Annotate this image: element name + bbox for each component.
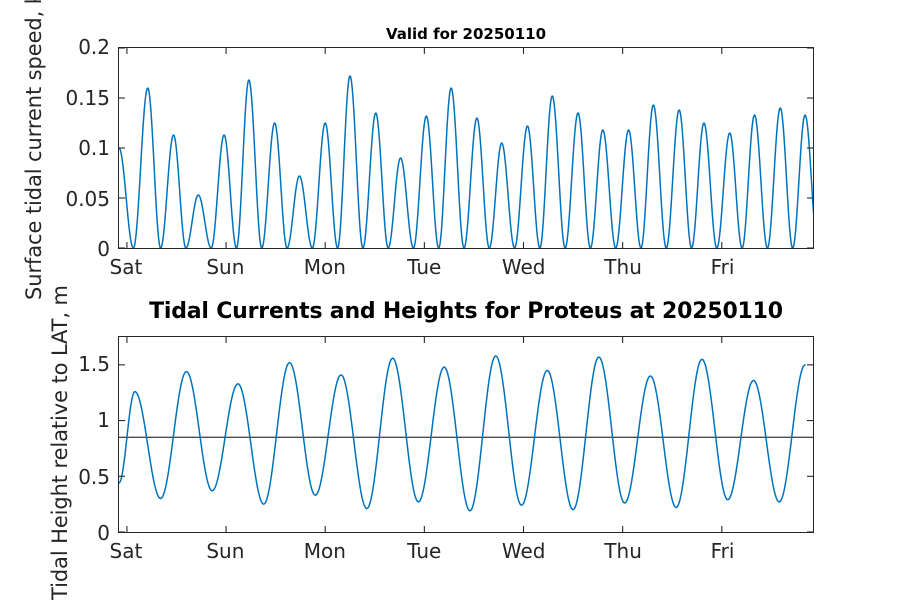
x-tick-label-current: Wed bbox=[502, 255, 546, 279]
tidal-figure: Surface tidal current speed, kn Tidal He… bbox=[0, 0, 900, 600]
plot-area-current-speed bbox=[118, 47, 814, 249]
y-tick-label-current: 0.2 bbox=[2, 35, 110, 59]
x-tick-label-height: Sat bbox=[110, 539, 143, 563]
x-tick-label-height: Fri bbox=[711, 539, 735, 563]
y-axis-label-tidal-height: Tidal Height relative to LAT, m bbox=[48, 285, 72, 600]
y-tick-label-current: 0.1 bbox=[2, 136, 110, 160]
tidal-height-line-chart bbox=[119, 337, 813, 532]
plot-area-tidal-height bbox=[118, 336, 814, 533]
current-speed-line-chart bbox=[119, 48, 813, 248]
x-tick-label-current: Sun bbox=[206, 255, 244, 279]
y-tick-label-current: 0 bbox=[2, 237, 110, 261]
x-tick-label-current: Sat bbox=[110, 255, 143, 279]
figure-main-title: Tidal Currents and Heights for Proteus a… bbox=[118, 299, 814, 324]
x-tick-label-height: Sun bbox=[206, 539, 244, 563]
y-tick-label-height: 1.5 bbox=[2, 352, 110, 376]
y-tick-label-current: 0.15 bbox=[2, 86, 110, 110]
x-tick-label-current: Tue bbox=[407, 255, 441, 279]
x-tick-label-current: Fri bbox=[711, 255, 735, 279]
x-tick-label-height: Tue bbox=[407, 539, 441, 563]
x-tick-label-height: Mon bbox=[304, 539, 346, 563]
y-tick-label-height: 0 bbox=[2, 521, 110, 545]
y-tick-label-height: 1 bbox=[2, 408, 110, 432]
x-tick-label-height: Wed bbox=[502, 539, 546, 563]
y-tick-label-height: 0.5 bbox=[2, 465, 110, 489]
x-tick-label-current: Thu bbox=[604, 255, 642, 279]
x-tick-label-height: Thu bbox=[604, 539, 642, 563]
x-tick-label-current: Mon bbox=[304, 255, 346, 279]
subplot-title-current: Valid for 20250110 bbox=[118, 25, 814, 43]
y-tick-label-current: 0.05 bbox=[2, 187, 110, 211]
